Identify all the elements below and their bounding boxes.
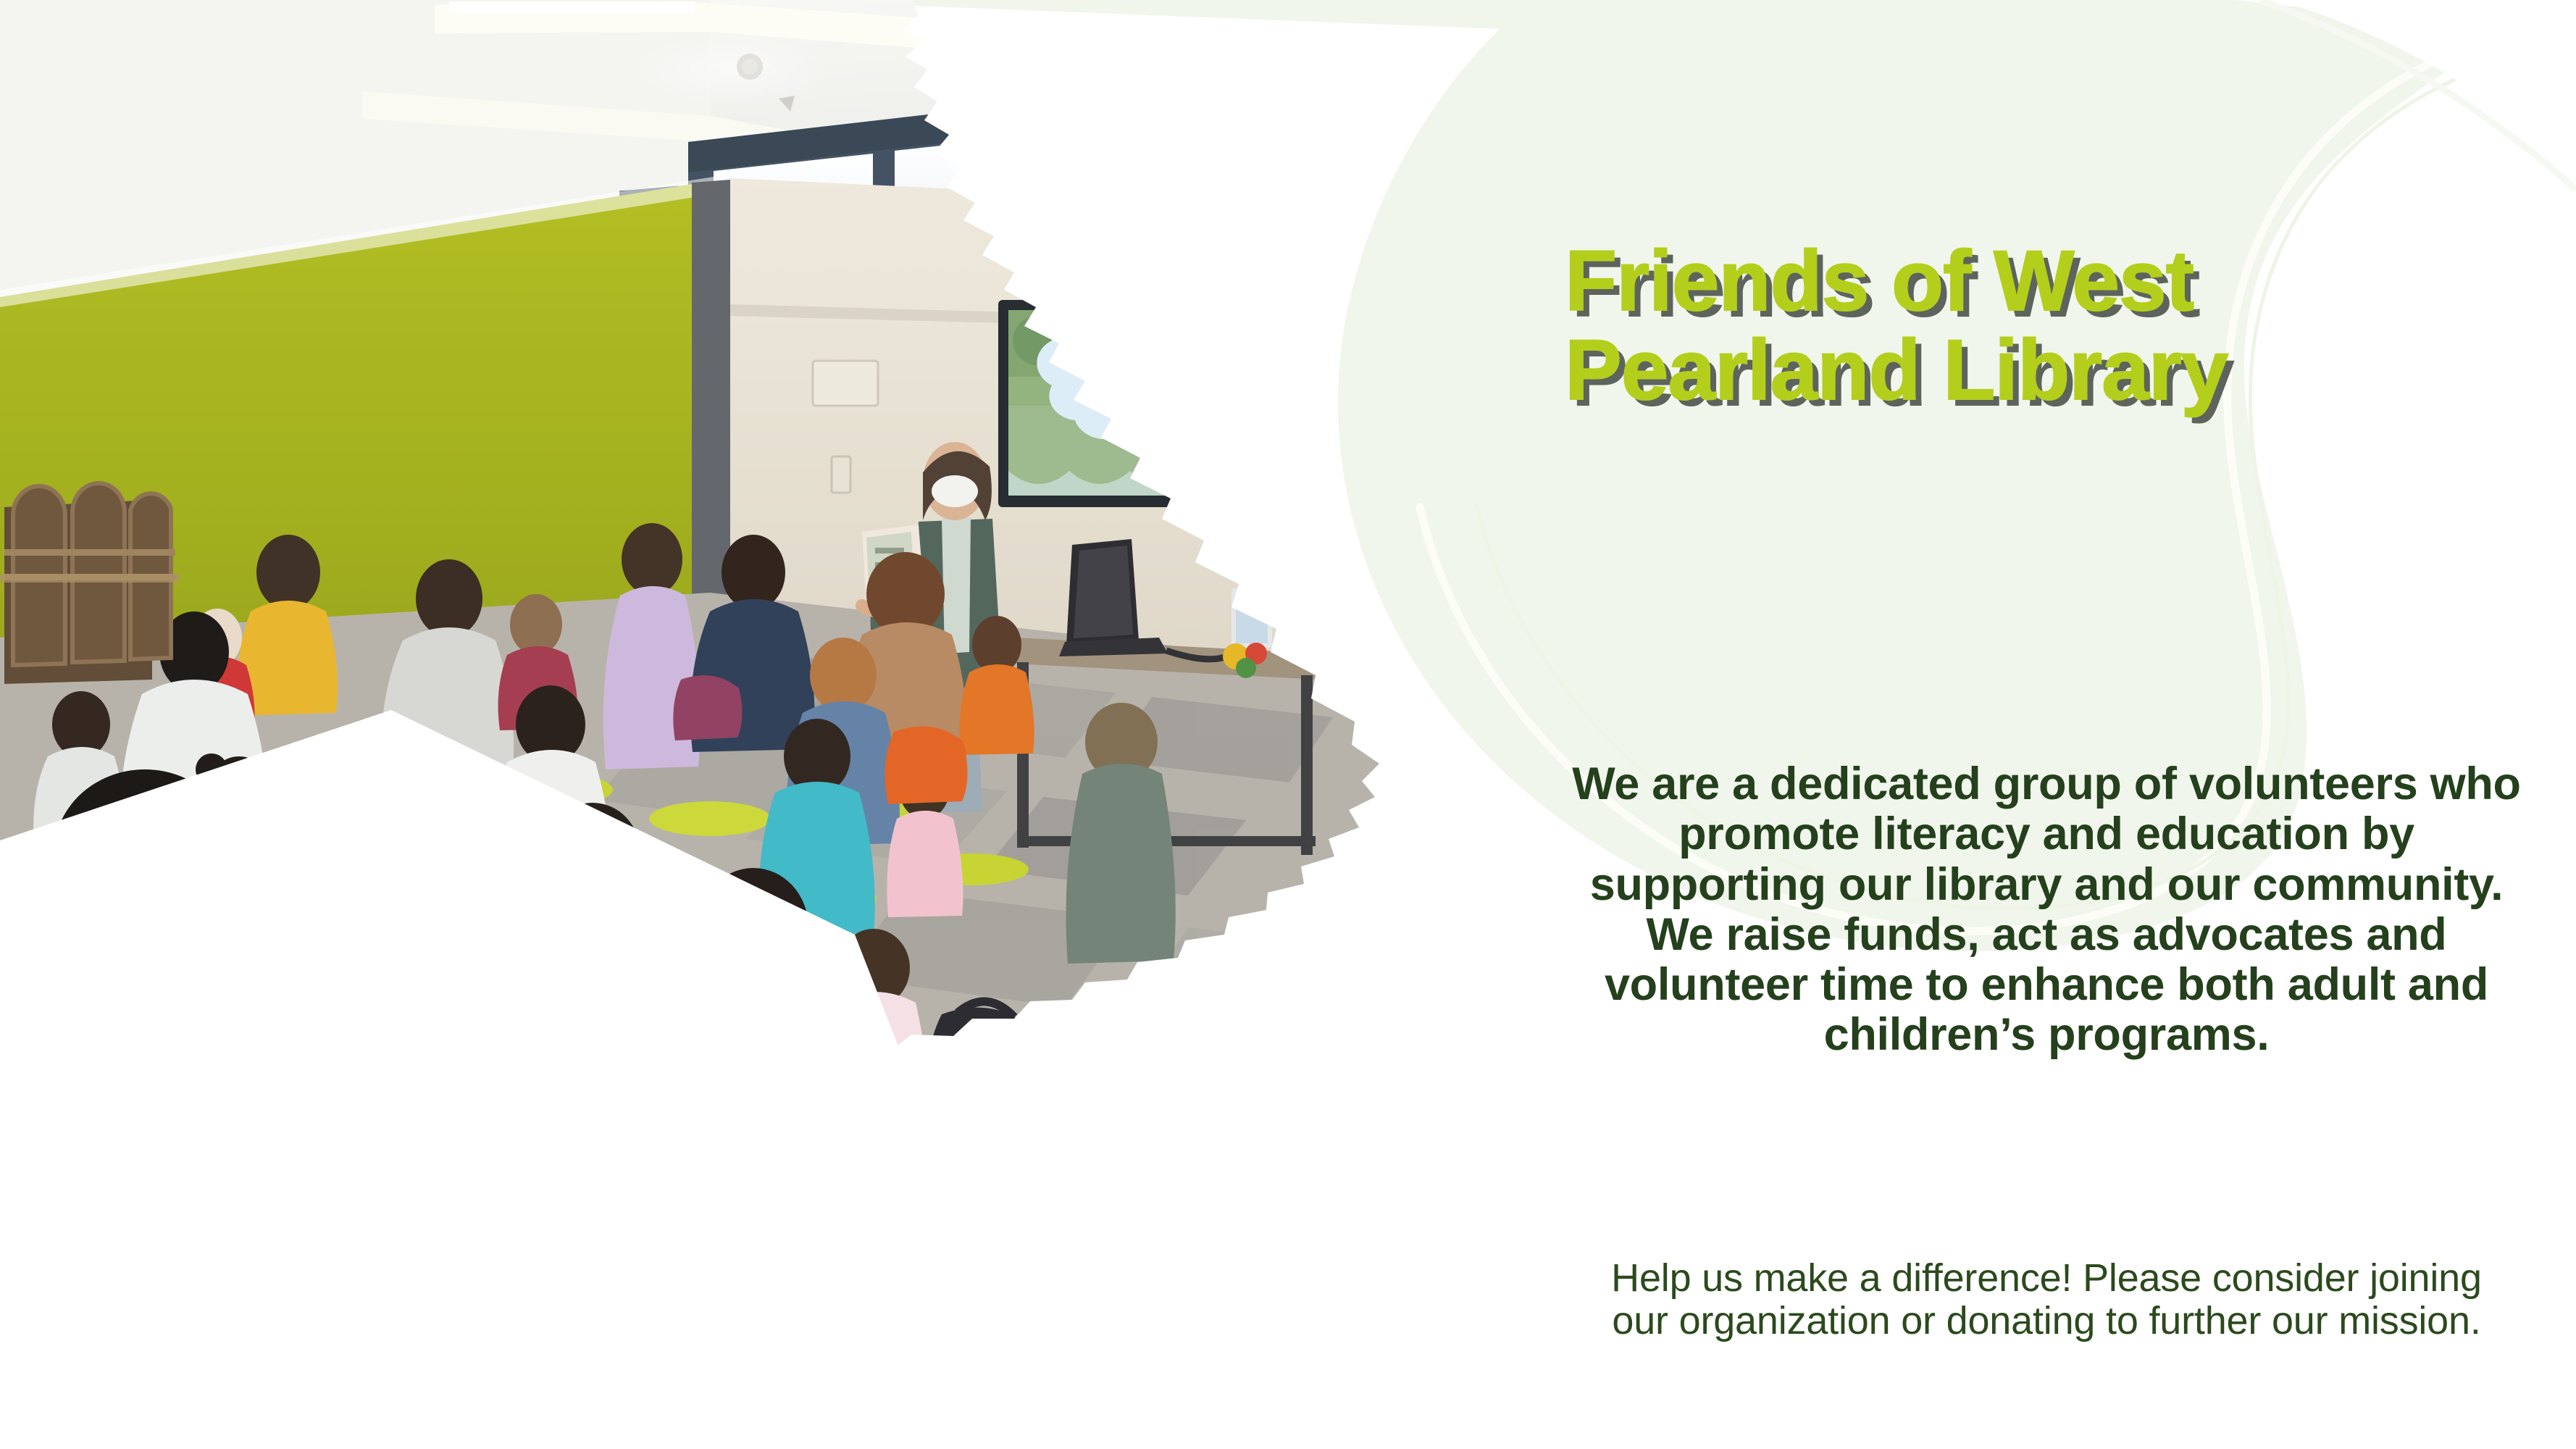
mission-line-1: We are a dedicated group of volunteers w… [1536, 759, 2557, 809]
headline-line-1: Friends of West [1565, 237, 2528, 326]
screen-caption-line-1: Time For a [1081, 341, 1232, 377]
screen-caption-line-2: Book! [1116, 389, 1197, 425]
photo-illustration-svg: Time For a Book! [0, 0, 1557, 1449]
library-storytime-photo: Time For a Book! [0, 0, 1557, 1449]
mission-line-3: supporting our library and our community… [1536, 860, 2557, 910]
mission-line-2: promote literacy and education by [1536, 809, 2557, 859]
mission-statement: We are a dedicated group of volunteers w… [1536, 759, 2557, 1061]
text-column: Friends of West Pearland Library We are … [1521, 0, 2576, 1449]
cta-line-2: our organization or donating to further … [1536, 1300, 2557, 1342]
slide-canvas: Time For a Book! [0, 0, 2576, 1449]
cta-line-1: Help us make a difference! Please consid… [1536, 1257, 2557, 1300]
headline-line-2: Pearland Library [1565, 326, 2528, 415]
mission-line-5: volunteer time to enhance both adult and [1536, 960, 2557, 1010]
photo-content: Time For a Book! [0, 0, 1557, 1449]
mission-line-4: We raise funds, act as advocates and [1536, 910, 2557, 960]
page-title: Friends of West Pearland Library [1565, 237, 2528, 414]
mission-line-6: children’s programs. [1536, 1010, 2557, 1060]
call-to-action: Help us make a difference! Please consid… [1536, 1257, 2557, 1343]
